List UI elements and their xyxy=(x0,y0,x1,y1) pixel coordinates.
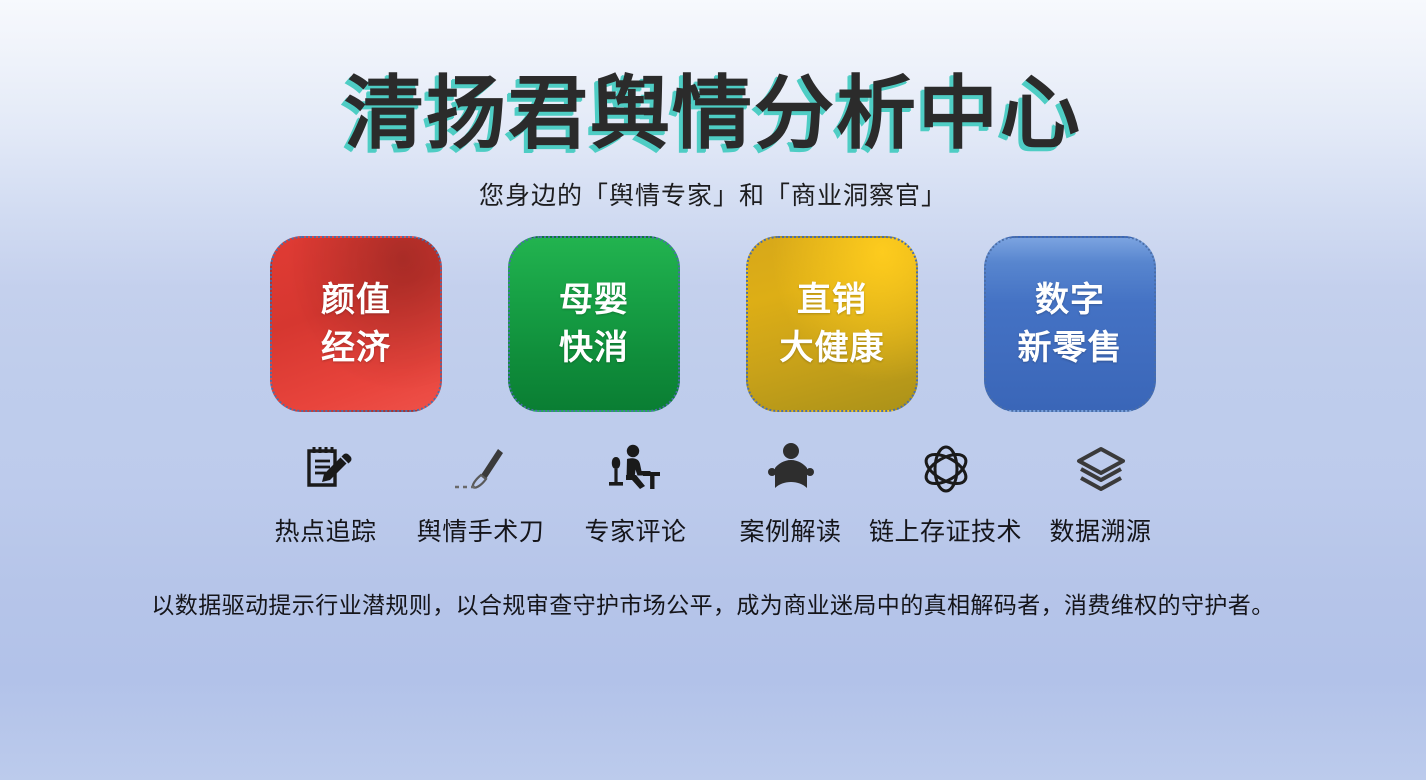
scalpel-icon xyxy=(451,438,511,500)
layers-stack-icon xyxy=(1071,438,1131,500)
hero-title-block: 清扬君舆情分析中心 您身边的「舆情专家」和「商业洞察官」 xyxy=(344,72,1082,212)
person-reading-book-icon xyxy=(761,438,821,500)
category-card-line2: 大健康 xyxy=(780,324,885,372)
feature-onchain-attestation[interactable]: 链上存证技术 xyxy=(868,438,1023,548)
person-at-desk-icon xyxy=(606,438,666,500)
page-title: 清扬君舆情分析中心 xyxy=(344,72,1082,156)
category-card-beauty-economy[interactable]: 颜值 经济 xyxy=(270,236,442,412)
feature-label: 数据溯源 xyxy=(1049,512,1151,548)
feature-label: 案例解读 xyxy=(739,512,841,548)
category-card-line1: 母婴 xyxy=(559,276,629,324)
category-card-line1: 直销 xyxy=(797,276,867,324)
category-card-line1: 数字 xyxy=(1035,276,1105,324)
category-card-direct-sales-health[interactable]: 直销 大健康 xyxy=(746,236,918,412)
feature-label: 专家评论 xyxy=(584,512,686,548)
poster-root: 清扬君舆情分析中心 您身边的「舆情专家」和「商业洞察官」 颜值 经济 母婴 快消… xyxy=(0,0,1426,780)
category-card-line2: 新零售 xyxy=(1018,324,1123,372)
feature-opinion-scalpel[interactable]: 舆情手术刀 xyxy=(403,438,558,548)
features-row: 热点追踪 舆情手术刀 xyxy=(248,438,1178,548)
category-card-line2: 快消 xyxy=(559,324,629,372)
category-card-maternal-fmcg[interactable]: 母婴 快消 xyxy=(508,236,680,412)
page-subtitle: 您身边的「舆情专家」和「商业洞察官」 xyxy=(344,176,1082,212)
feature-expert-commentary[interactable]: 专家评论 xyxy=(558,438,713,548)
category-card-digital-new-retail[interactable]: 数字 新零售 xyxy=(984,236,1156,412)
category-cards-row: 颜值 经济 母婴 快消 直销 大健康 数字 新零售 xyxy=(270,236,1156,412)
feature-hotspot-tracking[interactable]: 热点追踪 xyxy=(248,438,403,548)
feature-case-interpretation[interactable]: 案例解读 xyxy=(713,438,868,548)
footer-tagline: 以数据驱动提示行业潜规则，以合规审查守护市场公平，成为商业迷局中的真相解码者，消… xyxy=(151,586,1274,620)
feature-label: 舆情手术刀 xyxy=(417,512,545,548)
category-card-line1: 颜值 xyxy=(321,276,391,324)
feature-label: 热点追踪 xyxy=(274,512,376,548)
atom-blockchain-icon xyxy=(916,438,976,500)
category-card-line2: 经济 xyxy=(321,324,391,372)
feature-label: 链上存证技术 xyxy=(869,512,1022,548)
feature-data-traceability[interactable]: 数据溯源 xyxy=(1023,438,1178,548)
notepad-pencil-icon xyxy=(296,438,356,500)
